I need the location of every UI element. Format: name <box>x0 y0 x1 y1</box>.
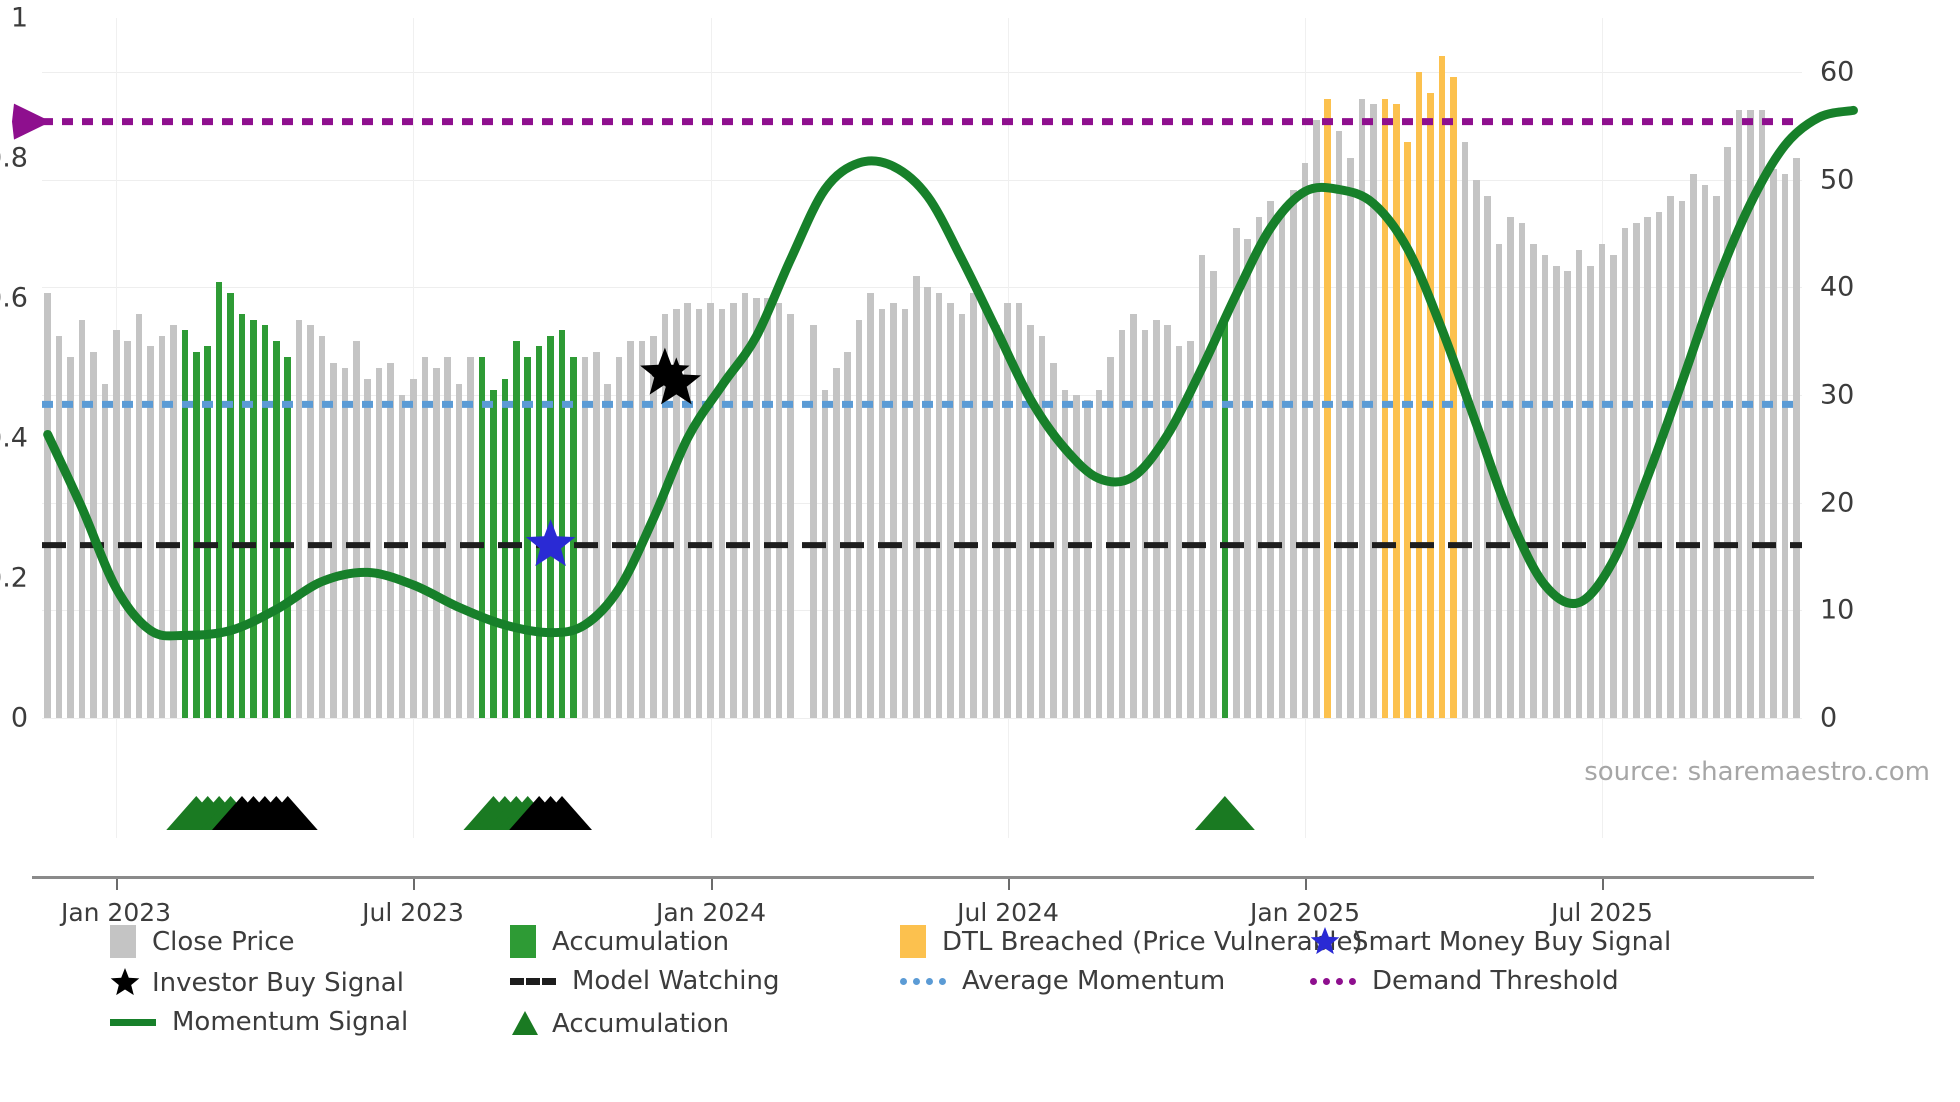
accumulation-triangle-green <box>1195 796 1255 830</box>
overlay-svg <box>0 0 1960 1102</box>
momentum-signal-line <box>48 110 1854 636</box>
chart-root: Jan 2023Jul 2023Jan 2024Jul 2024Jan 2025… <box>0 0 1960 1102</box>
demand-threshold-diamond-marker <box>12 104 51 140</box>
smart-money-buy-signal-star <box>526 519 576 566</box>
